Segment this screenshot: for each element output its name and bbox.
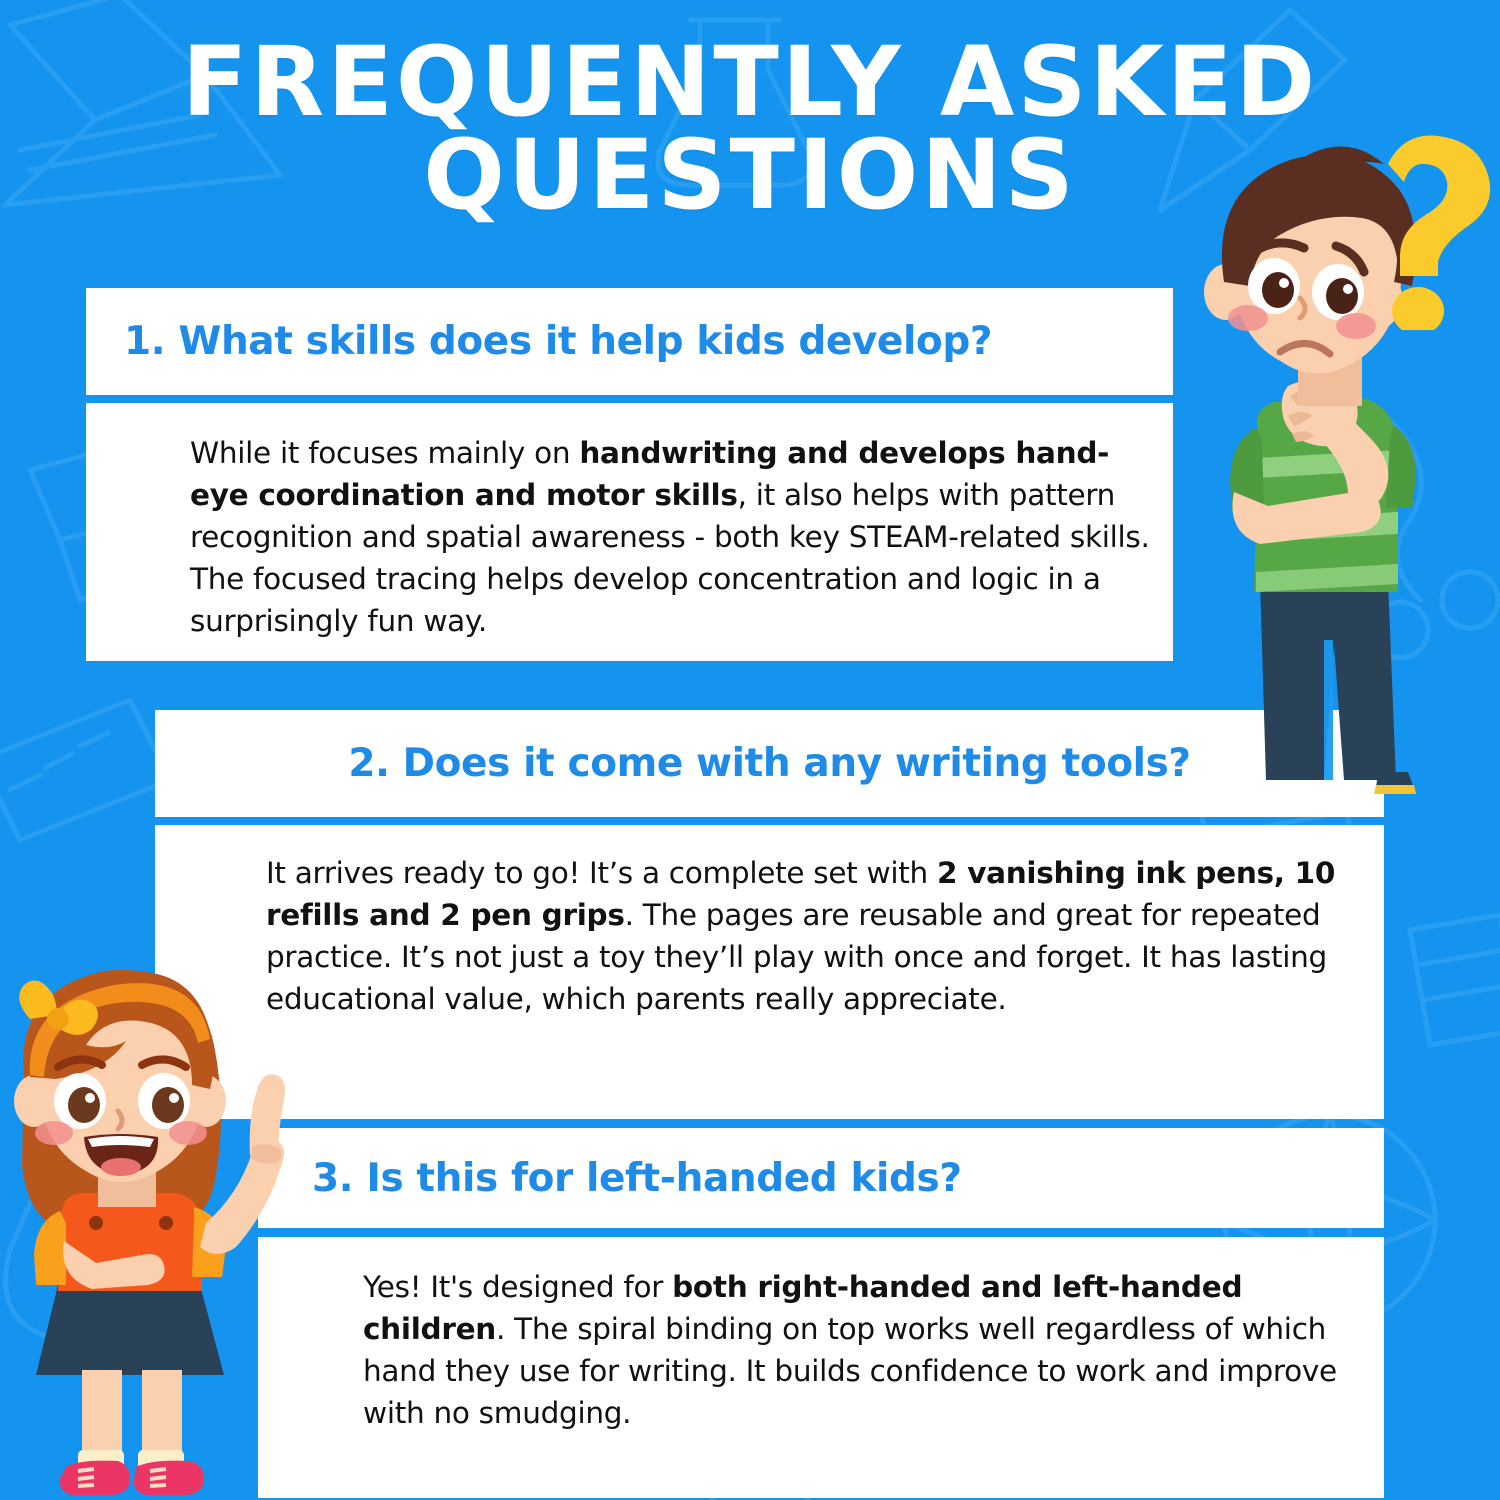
faq-answer-3: Yes! It's designed for both right-handed…	[258, 1237, 1384, 1498]
faq-answer-2: It arrives ready to go! It’s a complete …	[155, 825, 1384, 1119]
faq-question-text-3: 3. Is this for left-handed kids?	[312, 1156, 962, 1201]
faq-item-3: 3. Is this for left-handed kids? Yes! It…	[258, 1128, 1384, 1498]
girl-skirt	[36, 1285, 224, 1375]
faq-question-text-1: 1. What skills does it help kids develop…	[124, 319, 992, 364]
faq-question-header-3[interactable]: 3. Is this for left-handed kids?	[258, 1128, 1384, 1228]
pointing-girl-illustration	[0, 955, 320, 1500]
faq-item-1: 1. What skills does it help kids develop…	[86, 288, 1173, 661]
faq-question-header-1[interactable]: 1. What skills does it help kids develop…	[86, 288, 1173, 395]
faq-answer-1: While it focuses mainly on handwriting a…	[86, 403, 1173, 661]
question-mark-icon	[1330, 130, 1500, 330]
infographic-canvas: FREQUENTLY ASKED QUESTIONS 1. What skill…	[0, 0, 1500, 1500]
faq-question-text-2: 2. Does it come with any writing tools?	[348, 741, 1190, 786]
